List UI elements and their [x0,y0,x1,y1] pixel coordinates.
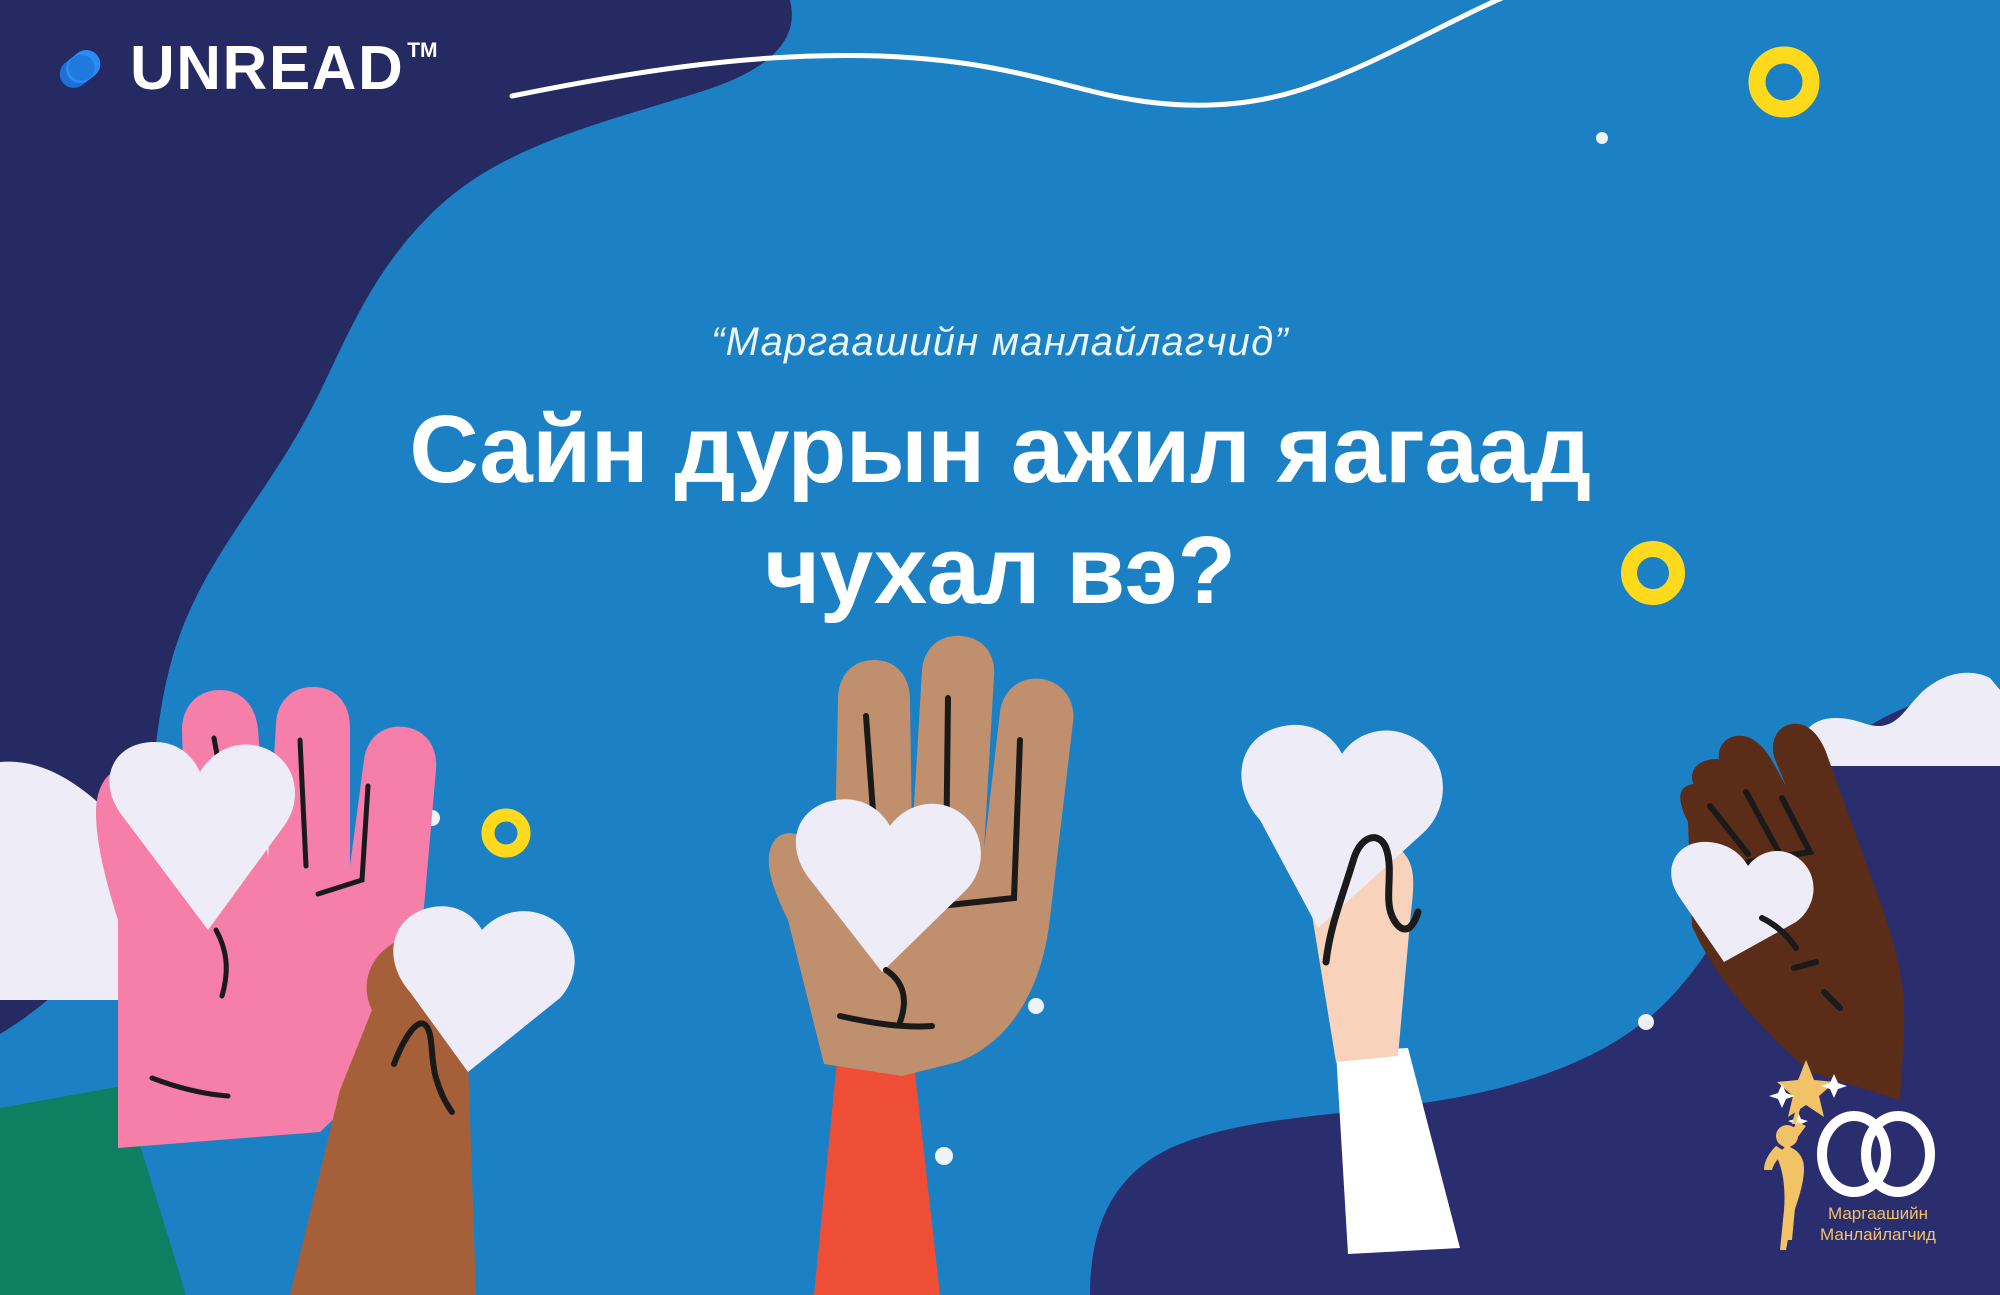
partner-logo-line-1: Маргаашийн [1828,1204,1928,1223]
slide-artwork [0,0,2000,1295]
margaashiin-manlailagchid-logo: Маргаашийн Манлайлагчид [1762,1050,1962,1265]
headline-line-1: Сайн дурын ажил яагаад [120,390,1880,511]
white-dot [1028,998,1044,1014]
white-dot [1596,132,1608,144]
partner-logo-line-2: Манлайлагчид [1820,1225,1936,1244]
headline-block: “Маргаашийн манлайлагчид” Сайн дурын ажи… [0,320,2000,632]
interlocking-rings-icon [1822,1116,1930,1192]
page-title: Сайн дурын ажил яагаад чухал вэ? [120,390,1880,632]
brand-wordmark: UNREAD TM [130,38,438,100]
eyebrow-text: “Маргаашийн манлайлагчид” [120,320,1880,364]
headline-line-2: чухал вэ? [120,511,1880,632]
brand-wordmark-text: UNREAD [130,38,404,100]
white-dot [1638,1014,1654,1030]
unread-pill-icon [52,41,108,97]
brand-lockup[interactable]: UNREAD TM [52,38,438,100]
slide-canvas: UNREAD TM “Маргаашийн манлайлагчид” Сайн… [0,0,2000,1295]
star-icon [1777,1060,1835,1117]
white-dot [935,1147,953,1165]
trademark-symbol: TM [407,40,437,61]
